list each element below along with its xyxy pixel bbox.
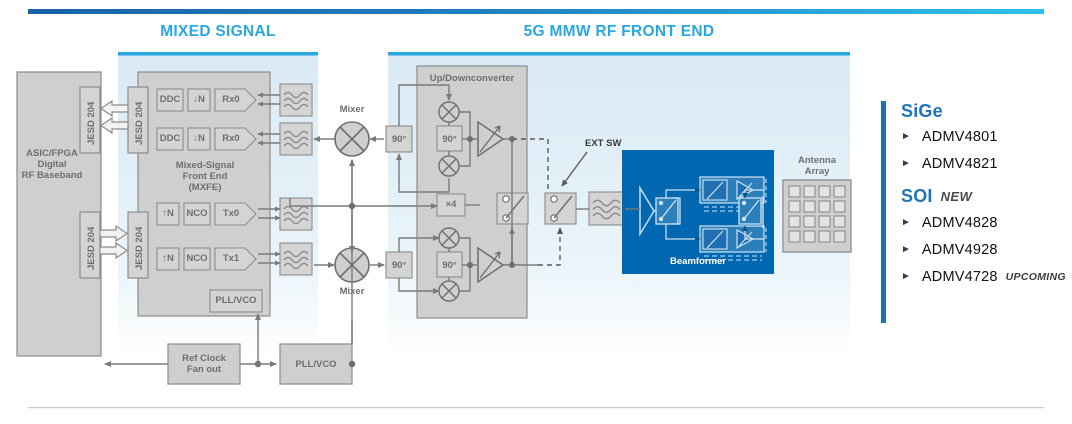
nco-label-2: NCO — [184, 253, 210, 264]
legend-item-admv4928[interactable]: ► ADMV4928 — [901, 236, 1066, 263]
mxfe-label: Mixed-Signal Front End (MXFE) — [150, 160, 260, 193]
nco-label-1: NCO — [184, 208, 210, 219]
quad-90-tx-label: 90° — [386, 260, 412, 271]
section-title-rf-front-end: 5G MMW RF FRONT END — [388, 23, 850, 41]
ddc-label-2: DDC — [157, 133, 183, 144]
quad-90-internal-tx-label: 90° — [437, 260, 462, 271]
tx0-label: Tx0 — [215, 208, 247, 219]
legend-item-admv4801-label: ADMV4801 — [922, 129, 998, 145]
legend-item-admv4821[interactable]: ► ADMV4821 — [901, 150, 1066, 177]
filter-rf-output — [589, 192, 625, 225]
jesd204-mxfe-tx-label: JESD 204 — [134, 227, 145, 270]
mixer-rx-label: Mixer — [327, 104, 377, 115]
triangle-right-icon: ► — [901, 132, 911, 142]
top-accent-bar — [28, 9, 1044, 14]
pll-vco-mxfe-label: PLL/VCO — [210, 295, 262, 306]
quad-90-rx-label: 90° — [386, 134, 412, 145]
ddc-label-1: DDC — [157, 94, 183, 105]
legend-group-title-soi: SOINEW — [901, 186, 1066, 207]
decimation-label-2: ↓N — [188, 133, 210, 144]
tx1-label: Tx1 — [215, 253, 247, 264]
rx0-label-2: Rx0 — [215, 133, 247, 144]
multiplier-x4-label: ×4 — [437, 199, 465, 210]
updownconverter-label: Up/Downconverter — [417, 73, 527, 84]
interp-label-2: ↑N — [157, 253, 179, 264]
footer-divider — [28, 407, 1044, 408]
diagram-root: MIXED SIGNAL 5G MMW RF FRONT END ASIC/FP… — [0, 0, 1072, 424]
triangle-right-icon: ► — [901, 218, 911, 228]
legend-item-admv4728-label: ADMV4728 — [922, 269, 998, 285]
ext-sw-switch — [545, 193, 576, 224]
beamformer-input-switch — [656, 198, 680, 224]
pll-vco-external-label: PLL/VCO — [280, 359, 352, 370]
legend-item-admv4928-label: ADMV4928 — [922, 242, 998, 258]
section-title-mixed-signal: MIXED SIGNAL — [118, 23, 318, 41]
interp-label-1: ↑N — [157, 208, 179, 219]
jesd204-asic-tx-label: JESD 204 — [86, 227, 97, 270]
legend-new-badge: NEW — [941, 189, 973, 204]
legend-item-admv4828[interactable]: ► ADMV4828 — [901, 209, 1066, 236]
legend-item-admv4801[interactable]: ► ADMV4801 — [901, 123, 1066, 150]
legend-item-admv4821-label: ADMV4821 — [922, 156, 998, 172]
legend-group-title-soi-text: SOI — [901, 186, 933, 206]
legend-upcoming-badge: UPCOMING — [1006, 271, 1066, 283]
product-legend: SiGe ► ADMV4801 ► ADMV4821 SOINEW ► ADMV… — [881, 101, 1066, 323]
antenna-array-label: Antenna Array — [783, 155, 851, 177]
legend-group-spacer — [901, 177, 1066, 186]
asic-fpga-label: ASIC/FPGA Digital RF Baseband — [17, 148, 87, 181]
mixer-rx — [335, 122, 369, 156]
legend-group-title-sige-text: SiGe — [901, 101, 943, 121]
ref-clock-fanout-label: Ref Clock Fan out — [168, 353, 240, 375]
filter-tx-1 — [280, 198, 312, 230]
jesd204-asic-rx-label: JESD 204 — [86, 102, 97, 145]
beamformer-output-switch — [739, 196, 763, 228]
beamformer-label: Beamformer — [622, 256, 774, 267]
mixer-tx-label: Mixer — [327, 286, 377, 297]
rx0-label-1: Rx0 — [215, 94, 247, 105]
legend-accent-bar — [881, 101, 886, 323]
triangle-right-icon: ► — [901, 272, 911, 282]
filter-rx-2 — [280, 123, 312, 155]
legend-group-title-sige: SiGe — [901, 101, 1066, 121]
legend-item-admv4728[interactable]: ► ADMV4728 UPCOMING — [901, 263, 1066, 290]
triangle-right-icon: ► — [901, 159, 911, 169]
jesd204-mxfe-rx-label: JESD 204 — [134, 102, 145, 145]
triangle-right-icon: ► — [901, 245, 911, 255]
decimation-label-1: ↓N — [188, 94, 210, 105]
filter-tx-2 — [280, 243, 312, 275]
legend-item-admv4828-label: ADMV4828 — [922, 215, 998, 231]
ext-sw-label: EXT SW — [585, 138, 631, 149]
filter-rx-1 — [280, 84, 312, 116]
quad-90-internal-rx-label: 90° — [437, 134, 462, 145]
